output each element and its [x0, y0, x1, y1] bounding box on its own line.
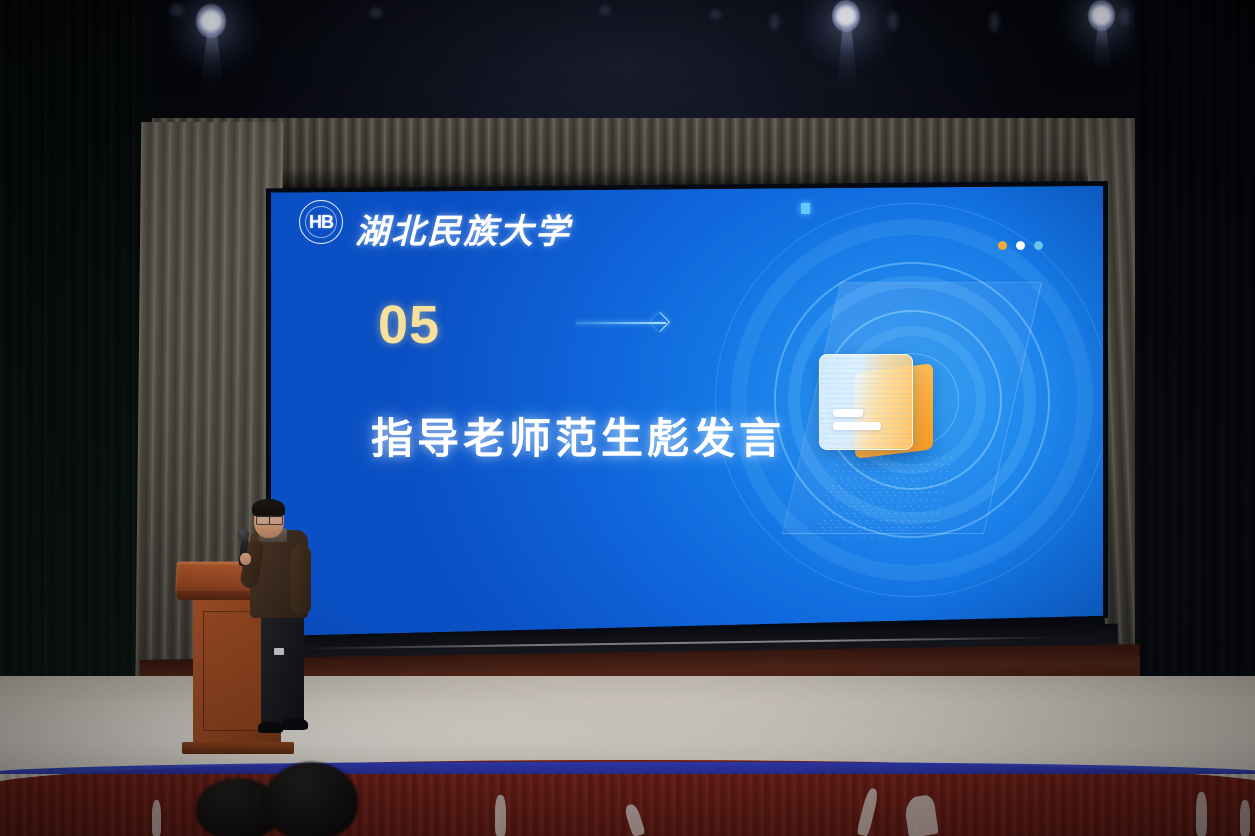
apron-silhouette	[495, 795, 506, 836]
microphone-head	[238, 528, 249, 541]
apron-silhouette	[1240, 800, 1250, 836]
apron-silhouette	[1196, 792, 1207, 836]
stage-apron-blue-stripe	[0, 762, 1255, 774]
speaker-hand	[240, 553, 251, 565]
apron-silhouette	[152, 800, 161, 836]
audience-head-right	[264, 762, 358, 836]
speaker-shoe-right	[282, 718, 308, 730]
speaker-arm-right	[291, 545, 311, 615]
stage-apron-ribs	[0, 772, 1255, 836]
speaker-shoe-left	[258, 722, 283, 733]
speaker-legs	[261, 600, 304, 730]
speaker	[0, 0, 1255, 836]
speaker-pocket-tag	[274, 648, 284, 655]
stage-scene: HB 湖北民族大学 05 指导老师范生彪发言	[0, 0, 1255, 836]
speaker-glasses-icon	[256, 515, 283, 524]
